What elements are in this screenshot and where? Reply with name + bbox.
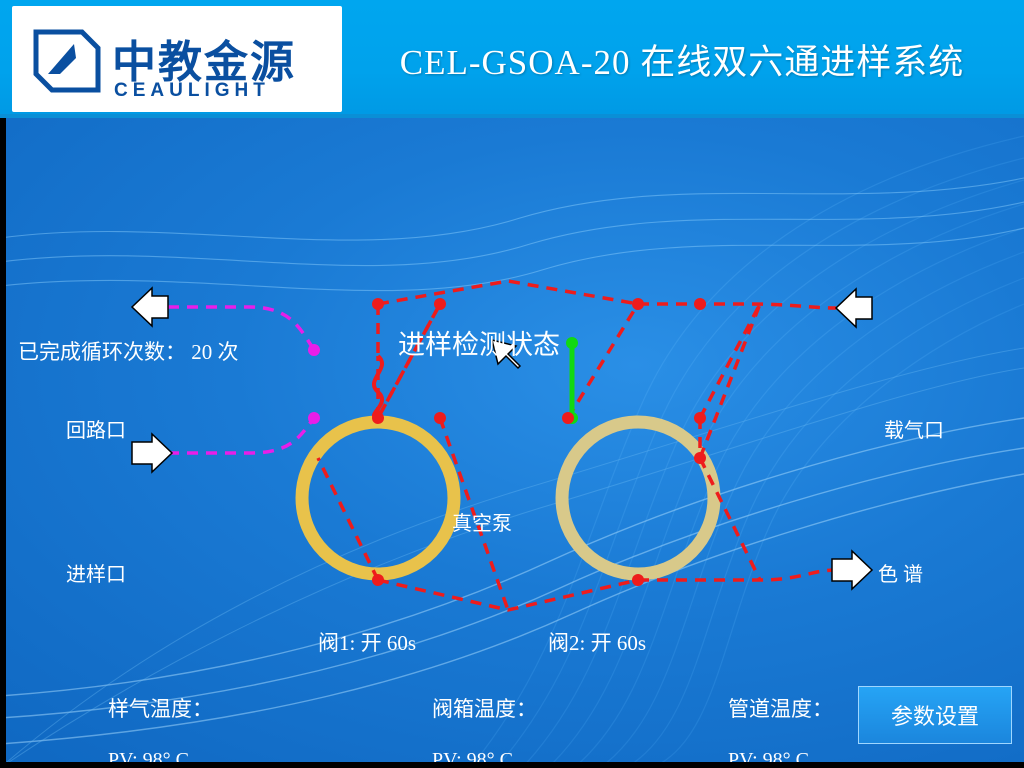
temperature-title: 样气温度： [108,693,213,723]
port-label-carrier: 载气口 [884,414,944,443]
brand-logo-block: 中教金源 CEAULIGHT [12,6,342,112]
temperature-title: 阀箱温度： [432,693,537,723]
page-title: CEL-GSOA-20 在线双六通进样系统 [352,34,1012,85]
brand-name-en: CEAULIGHT [114,80,270,102]
application-window: 中教金源 CEAULIGHT CEL-GSOA-20 在线双六通进样系统 [0,0,1024,768]
left-border [0,118,6,768]
valve-1-status: 阀1: 开 60s [318,627,416,657]
vacuum-node-top [566,337,578,349]
port-label-loop: 回路口 [66,414,126,443]
port-label-sample: 进样口 [66,558,126,587]
bottom-border [0,762,1024,768]
valve-2-ring [562,422,714,574]
valve-1-ring [302,422,454,574]
app-header: 中教金源 CEAULIGHT CEL-GSOA-20 在线双六通进样系统 [0,0,1024,118]
valve-2-status: 阀2: 开 60s [548,627,646,657]
valve-flow-schematic [0,118,1024,768]
temperature-panel-pipeline: 管道温度： PV: 98° C SP:100° C [728,693,833,768]
sample-port-arrow-icon [132,434,172,472]
chromatograph-port-arrow-icon [832,551,872,589]
sample-junction-nodes [308,344,320,424]
temperature-panel-sample-gas: 样气温度： PV: 98° C SP:100° C [108,693,213,768]
temperature-title: 管道温度： [728,693,833,723]
carrier-port-arrow-icon [836,289,872,327]
company-logo-icon [30,24,104,98]
parameter-settings-button[interactable]: 参数设置 [858,686,1012,744]
port-label-vacuum-pump: 真空泵 [452,507,512,536]
process-diagram-stage: 已完成循环次数： 20 次 进样检测状态 回路口 进样口 载气口 色 谱 真空泵… [0,118,1024,768]
cycle-count-label: 已完成循环次数： 20 次 [18,336,239,366]
temperature-panel-valve-box: 阀箱温度： PV: 98° C SP:100° C [432,693,537,768]
restrictor-coil-icon [374,356,382,418]
sample-loop-lines [168,307,314,453]
port-label-chromatograph: 色 谱 [878,558,923,587]
loop-port-arrow-icon [132,288,168,326]
status-title: 进样检测状态 [398,323,560,362]
